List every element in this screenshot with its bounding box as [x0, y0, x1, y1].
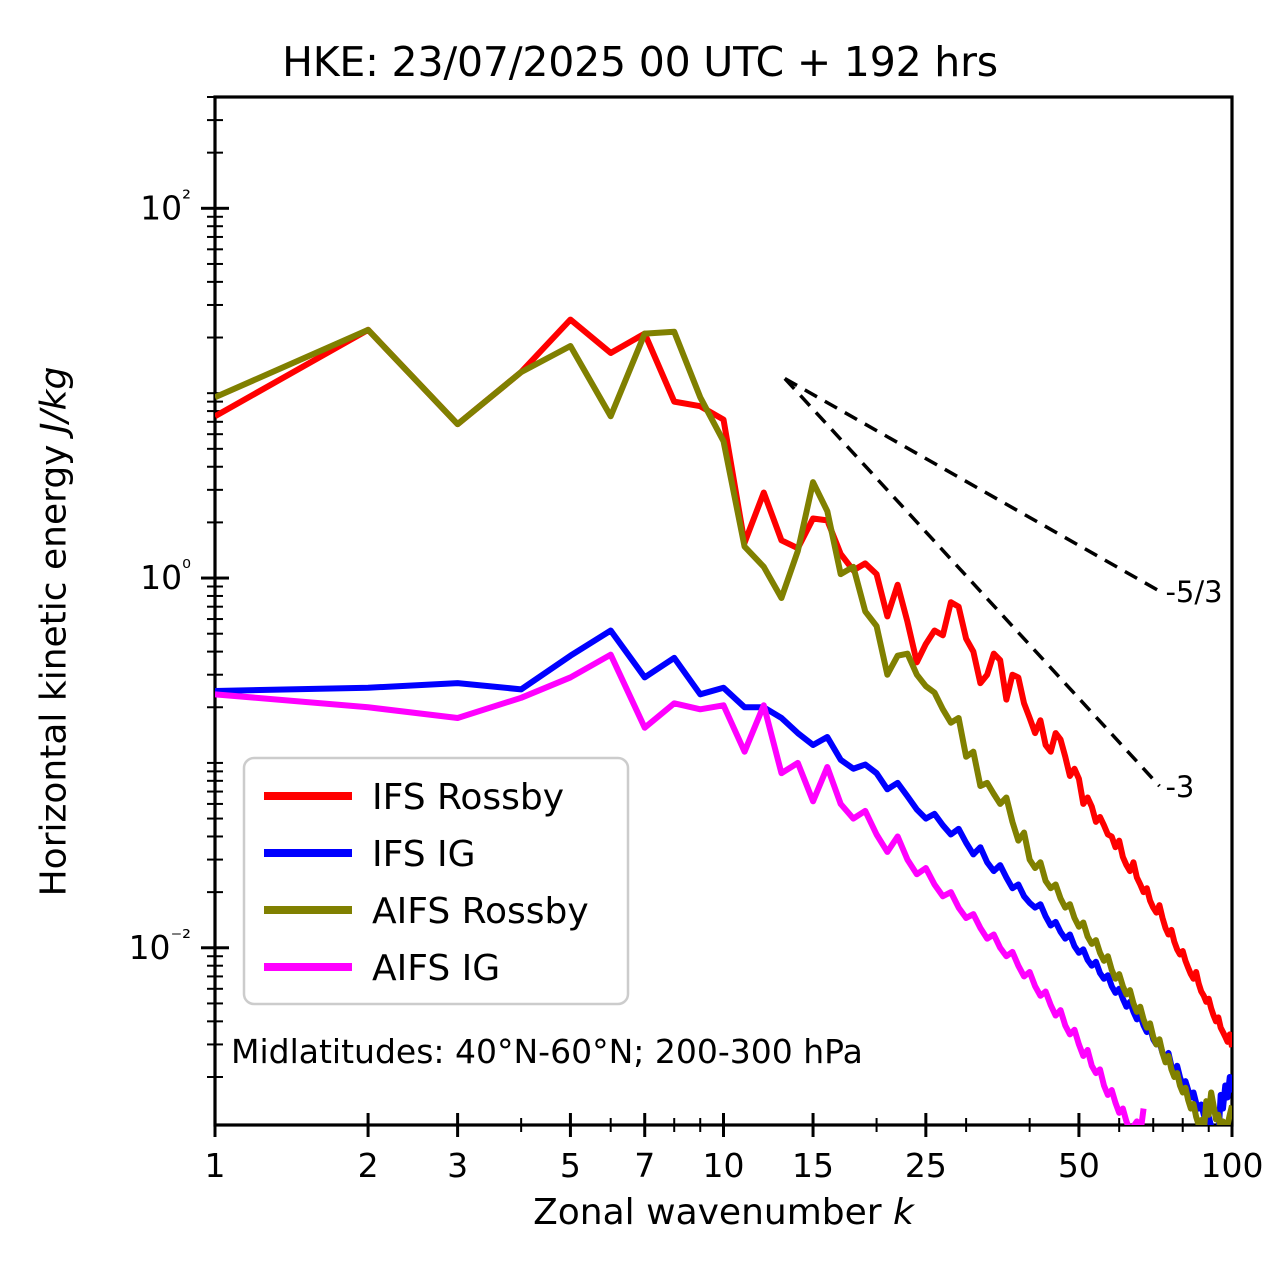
x-tick-label: 10 — [703, 1146, 745, 1185]
legend-label-aifs-ig[interactable]: AIFS IG — [372, 948, 500, 989]
legend-label-ifs-ig[interactable]: IFS IG — [372, 834, 476, 875]
reference-line-label: -3 — [1165, 770, 1194, 804]
y-tick-label: 10² — [140, 186, 191, 227]
x-tick-label: 25 — [905, 1146, 947, 1185]
data-series-group — [215, 320, 1232, 1140]
plot-canvas: 123571015255010010²10⁰10⁻² -5/3-3 Midlat… — [0, 0, 1280, 1288]
y-tick-label: 10⁰ — [140, 556, 191, 597]
plot-annotation: Midlatitudes: 40°N-60°N; 200-300 hPa — [231, 1032, 863, 1071]
x-tick-label: 15 — [792, 1146, 834, 1185]
x-tick-label: 2 — [358, 1146, 379, 1185]
legend-label-aifs-rossby[interactable]: AIFS Rossby — [372, 891, 589, 932]
midlatitudes-annotation: Midlatitudes: 40°N-60°N; 200-300 hPa — [231, 1032, 863, 1071]
x-tick-label: 3 — [447, 1146, 468, 1185]
legend-label-ifs-rossby[interactable]: IFS Rossby — [372, 777, 564, 818]
y-tick-label: 10⁻² — [129, 926, 191, 967]
series-line-aifs-rossby — [215, 330, 1232, 1134]
x-tick-label: 5 — [560, 1146, 581, 1185]
reference-line-label: -5/3 — [1165, 575, 1222, 609]
chart-figure: HKE: 23/07/2025 00 UTC + 192 hrs Horizon… — [0, 0, 1280, 1288]
x-tick-label: 50 — [1058, 1146, 1100, 1185]
x-tick-label: 1 — [205, 1146, 226, 1185]
x-tick-label: 100 — [1201, 1146, 1264, 1185]
reference-line--3 — [785, 379, 1160, 786]
x-tick-label: 7 — [634, 1146, 655, 1185]
chart-legend[interactable]: IFS RossbyIFS IGAIFS RossbyAIFS IG — [244, 758, 628, 1004]
reference-lines-group: -5/3-3 — [785, 379, 1223, 804]
